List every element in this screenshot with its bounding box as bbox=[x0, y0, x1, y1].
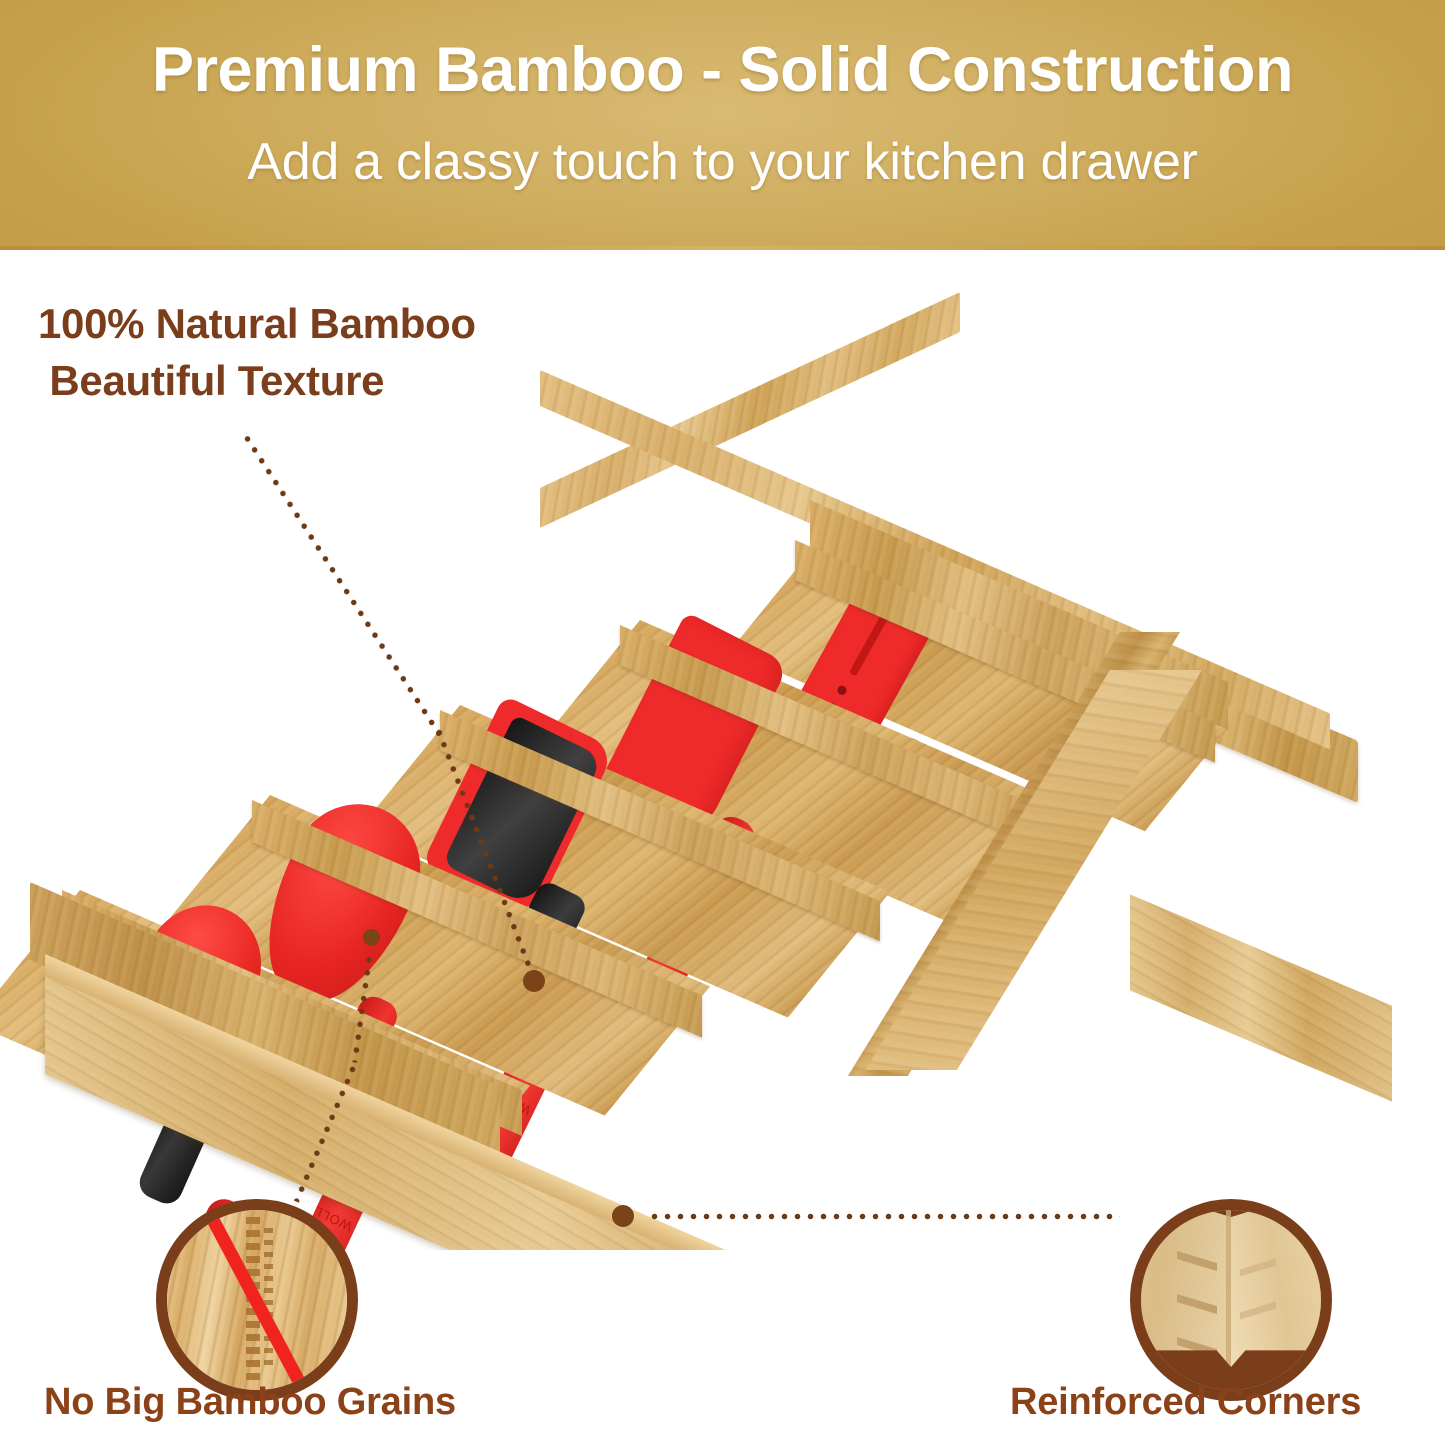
tray-body: WOLL WOLL bbox=[20, 370, 1410, 1250]
header-banner: Premium Bamboo - Solid Construction Add … bbox=[0, 0, 1445, 250]
banner-title: Premium Bamboo - Solid Construction bbox=[0, 34, 1445, 106]
connector-endpoint-grains-top bbox=[363, 929, 380, 946]
corner-joint-photo bbox=[1141, 1210, 1321, 1390]
connector-endpoint-texture bbox=[523, 970, 545, 992]
inset-no-big-grains bbox=[156, 1199, 358, 1401]
connector-line-corner-upper bbox=[648, 1213, 1120, 1220]
inset-reinforced-corner bbox=[1130, 1199, 1332, 1401]
caption-reinforced-corners: Reinforced Corners bbox=[1010, 1381, 1361, 1424]
product-photo: WOLL WOLL bbox=[0, 250, 1445, 1250]
connector-endpoint-corner-upper bbox=[612, 1205, 634, 1227]
banner-subtitle: Add a classy touch to your kitchen drawe… bbox=[0, 132, 1445, 192]
caption-no-big-grains: No Big Bamboo Grains bbox=[44, 1381, 456, 1424]
